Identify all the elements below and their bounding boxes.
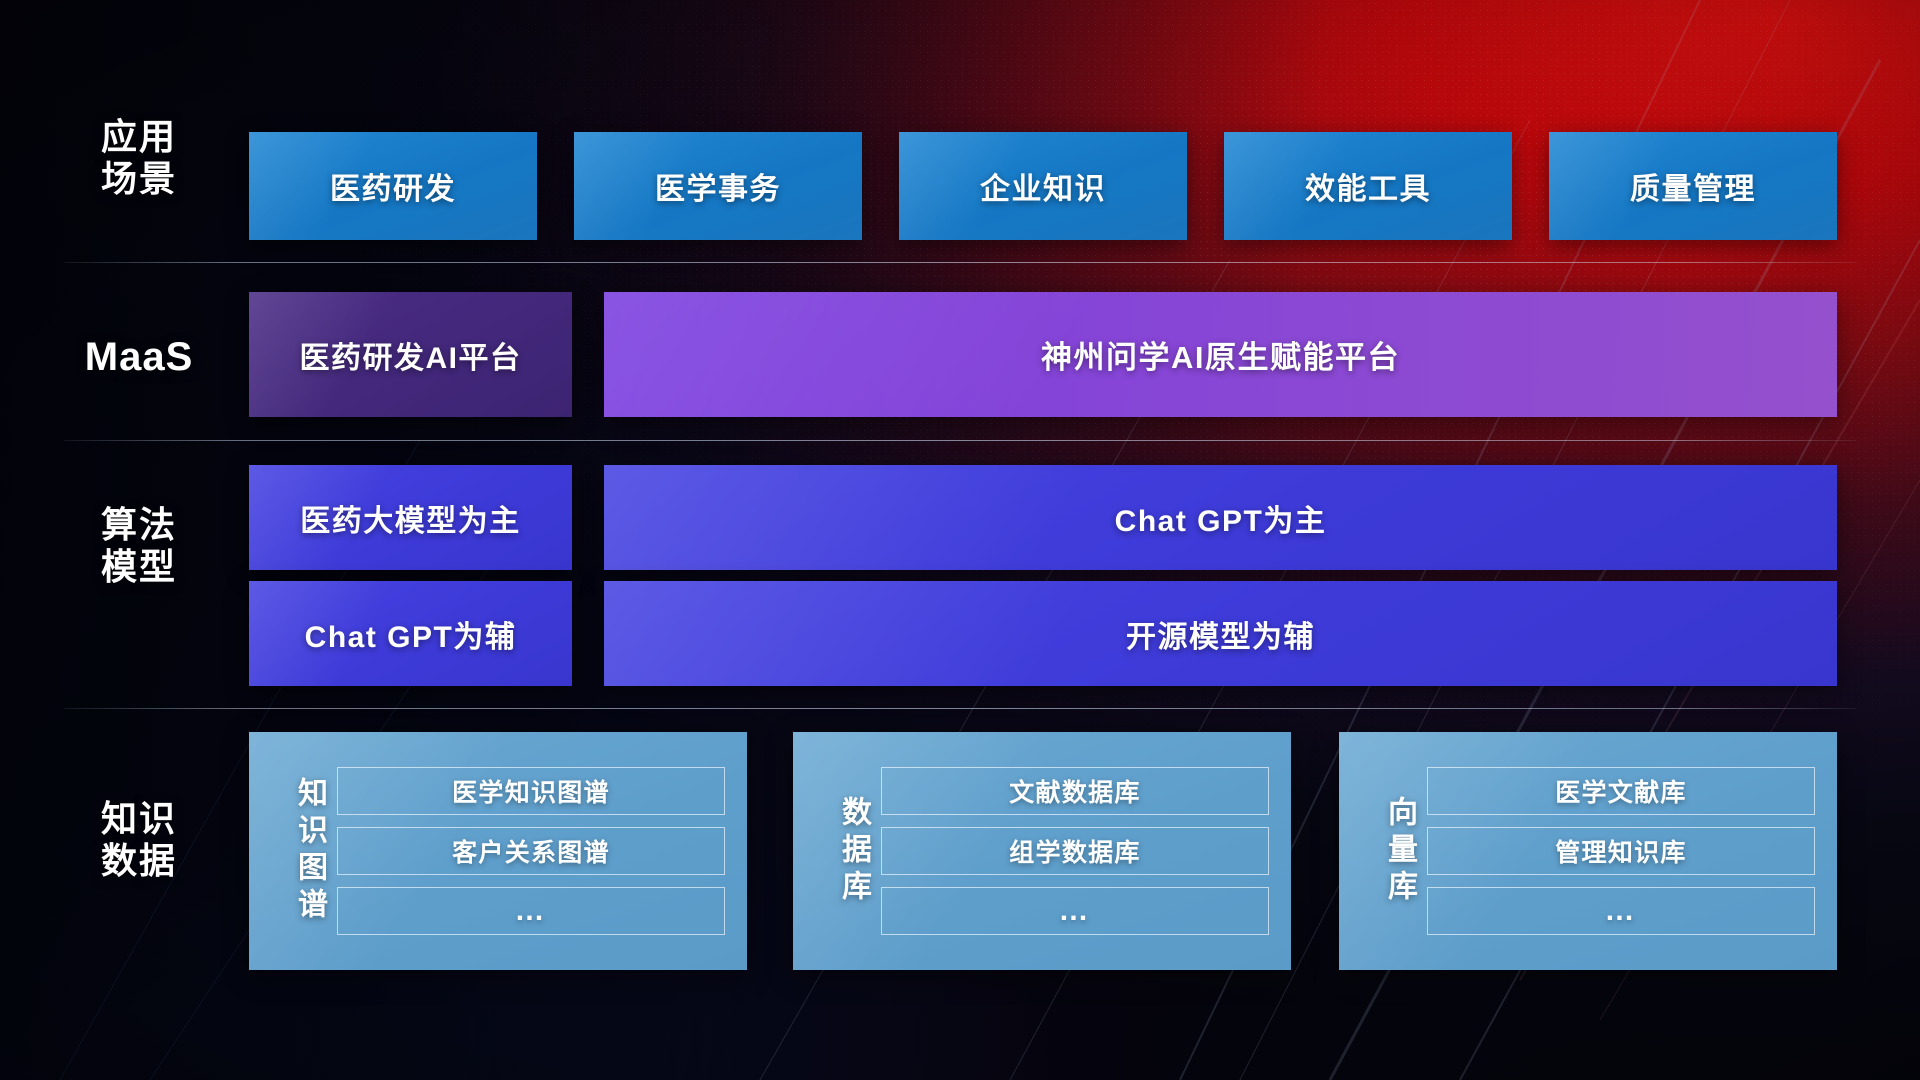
- knowledge-group-side-label: 数据库: [807, 796, 869, 907]
- knowledge-group-vector-store[interactable]: 向量库 医学文献库 管理知识库 …: [1339, 732, 1837, 970]
- knowledge-item-label: 医学知识图谱: [452, 773, 610, 809]
- row-label-algorithm-model: 算法 模型: [64, 504, 214, 589]
- divider-2: [64, 440, 1856, 441]
- algo-box-label: 开源模型为辅: [1126, 612, 1315, 656]
- row-label-maas: MaaS: [64, 334, 214, 381]
- knowledge-group-items: 医学文献库 管理知识库 …: [1427, 767, 1815, 935]
- maas-box-label: 神州问学AI原生赋能平台: [1041, 332, 1400, 377]
- row-label-application-scenarios: 应用 场景: [64, 116, 214, 201]
- row-label-line: 场景: [64, 158, 214, 200]
- knowledge-item[interactable]: 组学数据库: [881, 827, 1269, 875]
- knowledge-item-label: 医学文献库: [1555, 773, 1687, 809]
- knowledge-item-more[interactable]: …: [1427, 887, 1815, 935]
- knowledge-item[interactable]: 管理知识库: [1427, 827, 1815, 875]
- algo-box-label: 医药大模型为主: [300, 496, 521, 540]
- row-label-line: 算法: [64, 504, 214, 546]
- maas-box-medical-ai-platform[interactable]: 医药研发AI平台: [249, 292, 572, 417]
- knowledge-item-label: 客户关系图谱: [452, 833, 610, 869]
- scenario-tile-label: 效能工具: [1305, 164, 1431, 208]
- scenario-tile-label: 医药研发: [330, 164, 456, 208]
- knowledge-group-side-label: 向量库: [1353, 796, 1415, 907]
- row-label-line: 知识: [64, 798, 214, 840]
- scenario-tile-0[interactable]: 医药研发: [249, 132, 537, 240]
- algo-box-medical-model-primary[interactable]: 医药大模型为主: [249, 465, 572, 570]
- knowledge-item[interactable]: 医学文献库: [1427, 767, 1815, 815]
- knowledge-item-label: 文献数据库: [1009, 773, 1141, 809]
- knowledge-item-label: 管理知识库: [1555, 833, 1687, 869]
- row-label-line: 应用: [64, 116, 214, 158]
- scenario-tile-2[interactable]: 企业知识: [899, 132, 1187, 240]
- knowledge-group-knowledge-graph[interactable]: 知识图谱 医学知识图谱 客户关系图谱 …: [249, 732, 747, 970]
- knowledge-item[interactable]: 医学知识图谱: [337, 767, 725, 815]
- algo-box-chatgpt-secondary[interactable]: Chat GPT为辅: [249, 581, 572, 686]
- architecture-diagram: 应用 场景 医药研发 医学事务 企业知识 效能工具 质量管理: [0, 0, 1920, 1080]
- knowledge-item-label: …: [515, 894, 548, 928]
- row-label-line: 模型: [64, 546, 214, 588]
- knowledge-group-items: 医学知识图谱 客户关系图谱 …: [337, 767, 725, 935]
- divider-3: [64, 708, 1856, 709]
- scenario-tile-4[interactable]: 质量管理: [1549, 132, 1837, 240]
- scenario-tile-3[interactable]: 效能工具: [1224, 132, 1512, 240]
- algo-box-label: Chat GPT为主: [1115, 496, 1327, 540]
- knowledge-group-database[interactable]: 数据库 文献数据库 组学数据库 …: [793, 732, 1291, 970]
- row-label-knowledge-data: 知识 数据: [64, 798, 214, 883]
- row-label-line: MaaS: [64, 334, 214, 381]
- knowledge-item[interactable]: 文献数据库: [881, 767, 1269, 815]
- knowledge-group-side-label: 知识图谱: [263, 777, 325, 925]
- knowledge-item-label: …: [1059, 894, 1092, 928]
- knowledge-group-items: 文献数据库 组学数据库 …: [881, 767, 1269, 935]
- knowledge-item-more[interactable]: …: [881, 887, 1269, 935]
- knowledge-item-label: …: [1605, 894, 1638, 928]
- maas-box-shenzhou-platform[interactable]: 神州问学AI原生赋能平台: [604, 292, 1837, 417]
- algo-box-opensource-secondary[interactable]: 开源模型为辅: [604, 581, 1837, 686]
- scenario-tile-label: 企业知识: [980, 164, 1106, 208]
- scenario-tile-1[interactable]: 医学事务: [574, 132, 862, 240]
- divider-1: [64, 262, 1856, 263]
- row-label-line: 数据: [64, 840, 214, 882]
- knowledge-item-label: 组学数据库: [1009, 833, 1141, 869]
- knowledge-item-more[interactable]: …: [337, 887, 725, 935]
- maas-box-label: 医药研发AI平台: [300, 333, 522, 377]
- algo-box-chatgpt-primary[interactable]: Chat GPT为主: [604, 465, 1837, 570]
- algo-box-label: Chat GPT为辅: [305, 612, 517, 656]
- scenario-tile-label: 质量管理: [1630, 164, 1756, 208]
- knowledge-item[interactable]: 客户关系图谱: [337, 827, 725, 875]
- scenario-tile-label: 医学事务: [655, 164, 781, 208]
